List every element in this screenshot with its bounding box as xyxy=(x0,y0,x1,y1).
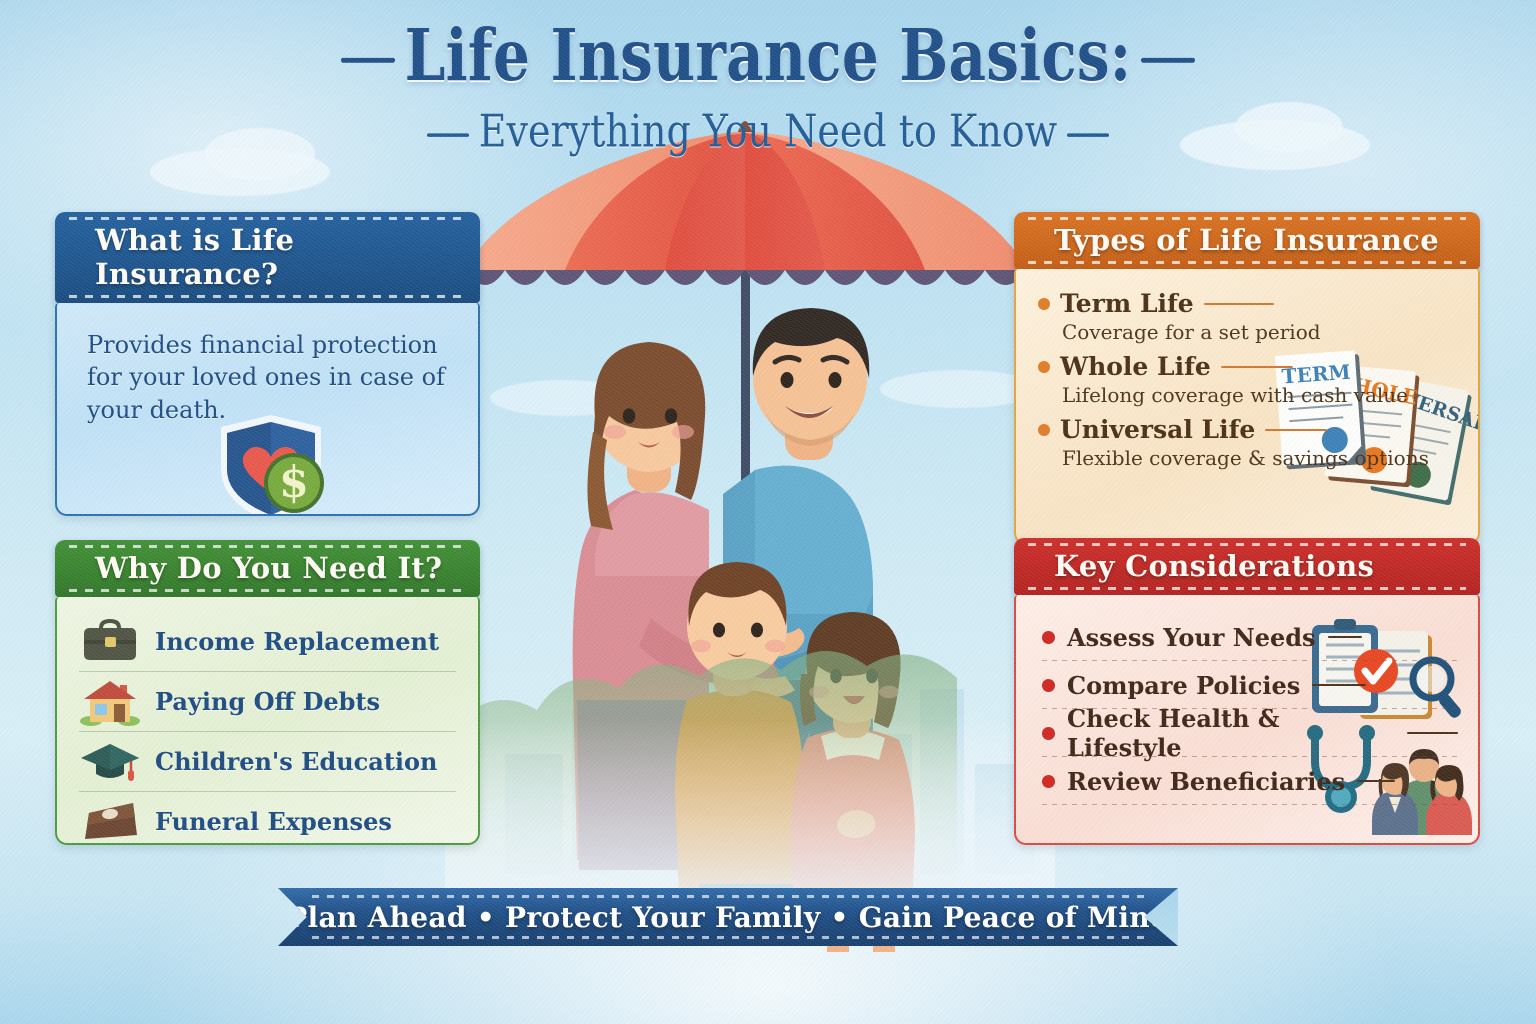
why-need-list: Income Replacement Paying Off Debts xyxy=(57,597,478,845)
divider xyxy=(1221,366,1293,368)
bullet-icon xyxy=(1038,361,1050,373)
card-types-body: UNIVERSAL WHOLE xyxy=(1014,269,1480,545)
divider xyxy=(1328,636,1362,638)
types-list: Term Life Coverage for a set period Whol… xyxy=(1016,269,1478,470)
list-item[interactable]: Income Replacement xyxy=(79,611,456,671)
list-item-label: Income Replacement xyxy=(155,627,439,656)
footer-banner-text: Plan Ahead • Protect Your Family • Gain … xyxy=(286,901,1170,934)
key-considerations-list: Assess Your Needs Compare Policies Check… xyxy=(1016,595,1478,805)
page-title-block: Life Insurance Basics: Everything You Ne… xyxy=(0,20,1536,153)
card-types-of-life-insurance: Types of Life Insurance UNIVERSAL xyxy=(1014,212,1480,545)
card-key-considerations: Key Considerations xyxy=(1014,538,1480,845)
bullet-icon xyxy=(1042,775,1055,788)
briefcase-icon xyxy=(79,618,141,664)
bullet-icon xyxy=(1042,679,1055,692)
list-item[interactable]: Paying Off Debts xyxy=(79,671,456,731)
list-item[interactable]: Review Beneficiaries xyxy=(1042,757,1458,805)
divider xyxy=(1265,429,1327,431)
divider xyxy=(1407,732,1458,734)
house-icon xyxy=(79,679,141,725)
list-item-title: Universal Life xyxy=(1060,415,1255,444)
graduation-cap-icon xyxy=(79,739,141,785)
banner-ribbon-notch xyxy=(1144,888,1178,946)
divider xyxy=(1312,684,1366,686)
list-item-desc: Coverage for a set period xyxy=(1062,320,1462,344)
list-item-label: Funeral Expenses xyxy=(155,807,392,836)
card-key-body: Assess Your Needs Compare Policies Check… xyxy=(1014,595,1480,845)
list-item-label: Check Health & Lifestyle xyxy=(1067,704,1395,762)
list-item-label: Review Beneficiaries xyxy=(1067,767,1345,796)
bullet-icon xyxy=(1038,298,1050,310)
list-item[interactable]: Whole Life Lifelong coverage with cash v… xyxy=(1038,352,1462,407)
card-why-body: Income Replacement Paying Off Debts xyxy=(55,597,480,845)
page-subtitle: Everything You Need to Know xyxy=(423,105,1113,157)
svg-text:$: $ xyxy=(279,458,309,508)
list-item[interactable]: Term Life Coverage for a set period xyxy=(1038,289,1462,344)
card-what-is-life-insurance: What is Life Insurance? Provides financi… xyxy=(55,212,480,516)
list-item[interactable]: Universal Life Flexible coverage & savin… xyxy=(1038,415,1462,470)
list-item-label: Children's Education xyxy=(155,747,438,776)
card-what-description: Provides financial protection for your l… xyxy=(57,303,478,426)
list-item[interactable]: Assess Your Needs xyxy=(1042,613,1458,661)
card-what-header: What is Life Insurance? xyxy=(55,212,480,303)
footer-banner: Plan Ahead • Protect Your Family • Gain … xyxy=(278,888,1178,946)
list-item-label: Compare Policies xyxy=(1067,671,1300,700)
bullet-icon xyxy=(1038,424,1050,436)
list-item[interactable]: Children's Education xyxy=(79,731,456,791)
card-why-header: Why Do You Need It? xyxy=(55,540,480,597)
page-title: Life Insurance Basics: xyxy=(339,20,1198,92)
card-what-heading: What is Life Insurance? xyxy=(95,223,294,291)
card-types-heading: Types of Life Insurance xyxy=(1054,223,1439,257)
card-key-header: Key Considerations xyxy=(1014,538,1480,595)
list-item-desc: Lifelong coverage with cash value xyxy=(1062,383,1462,407)
list-item[interactable]: Check Health & Lifestyle xyxy=(1042,709,1458,757)
list-item[interactable]: Compare Policies xyxy=(1042,661,1458,709)
list-item[interactable]: Funeral Expenses xyxy=(79,791,456,845)
list-item-title: Term Life xyxy=(1060,289,1194,318)
list-item-label: Paying Off Debts xyxy=(155,687,380,716)
divider xyxy=(1204,303,1274,305)
list-item-label: Assess Your Needs xyxy=(1067,623,1316,652)
bullet-icon xyxy=(1042,631,1055,644)
shield-heart-dollar-icon: $ xyxy=(193,421,343,516)
bullet-icon xyxy=(1042,727,1055,740)
list-item-title: Whole Life xyxy=(1060,352,1211,381)
coffin-icon xyxy=(79,799,141,845)
list-item-desc: Flexible coverage & savings options xyxy=(1062,446,1462,470)
card-key-heading: Key Considerations xyxy=(1054,549,1374,583)
family-under-umbrella-illustration xyxy=(455,140,1045,900)
card-why-heading: Why Do You Need It? xyxy=(95,551,442,585)
card-why-do-you-need-it: Why Do You Need It? Income Replacement xyxy=(55,540,480,845)
card-types-header: Types of Life Insurance xyxy=(1014,212,1480,269)
card-what-body: Provides financial protection for your l… xyxy=(55,303,480,516)
divider xyxy=(1357,780,1395,782)
